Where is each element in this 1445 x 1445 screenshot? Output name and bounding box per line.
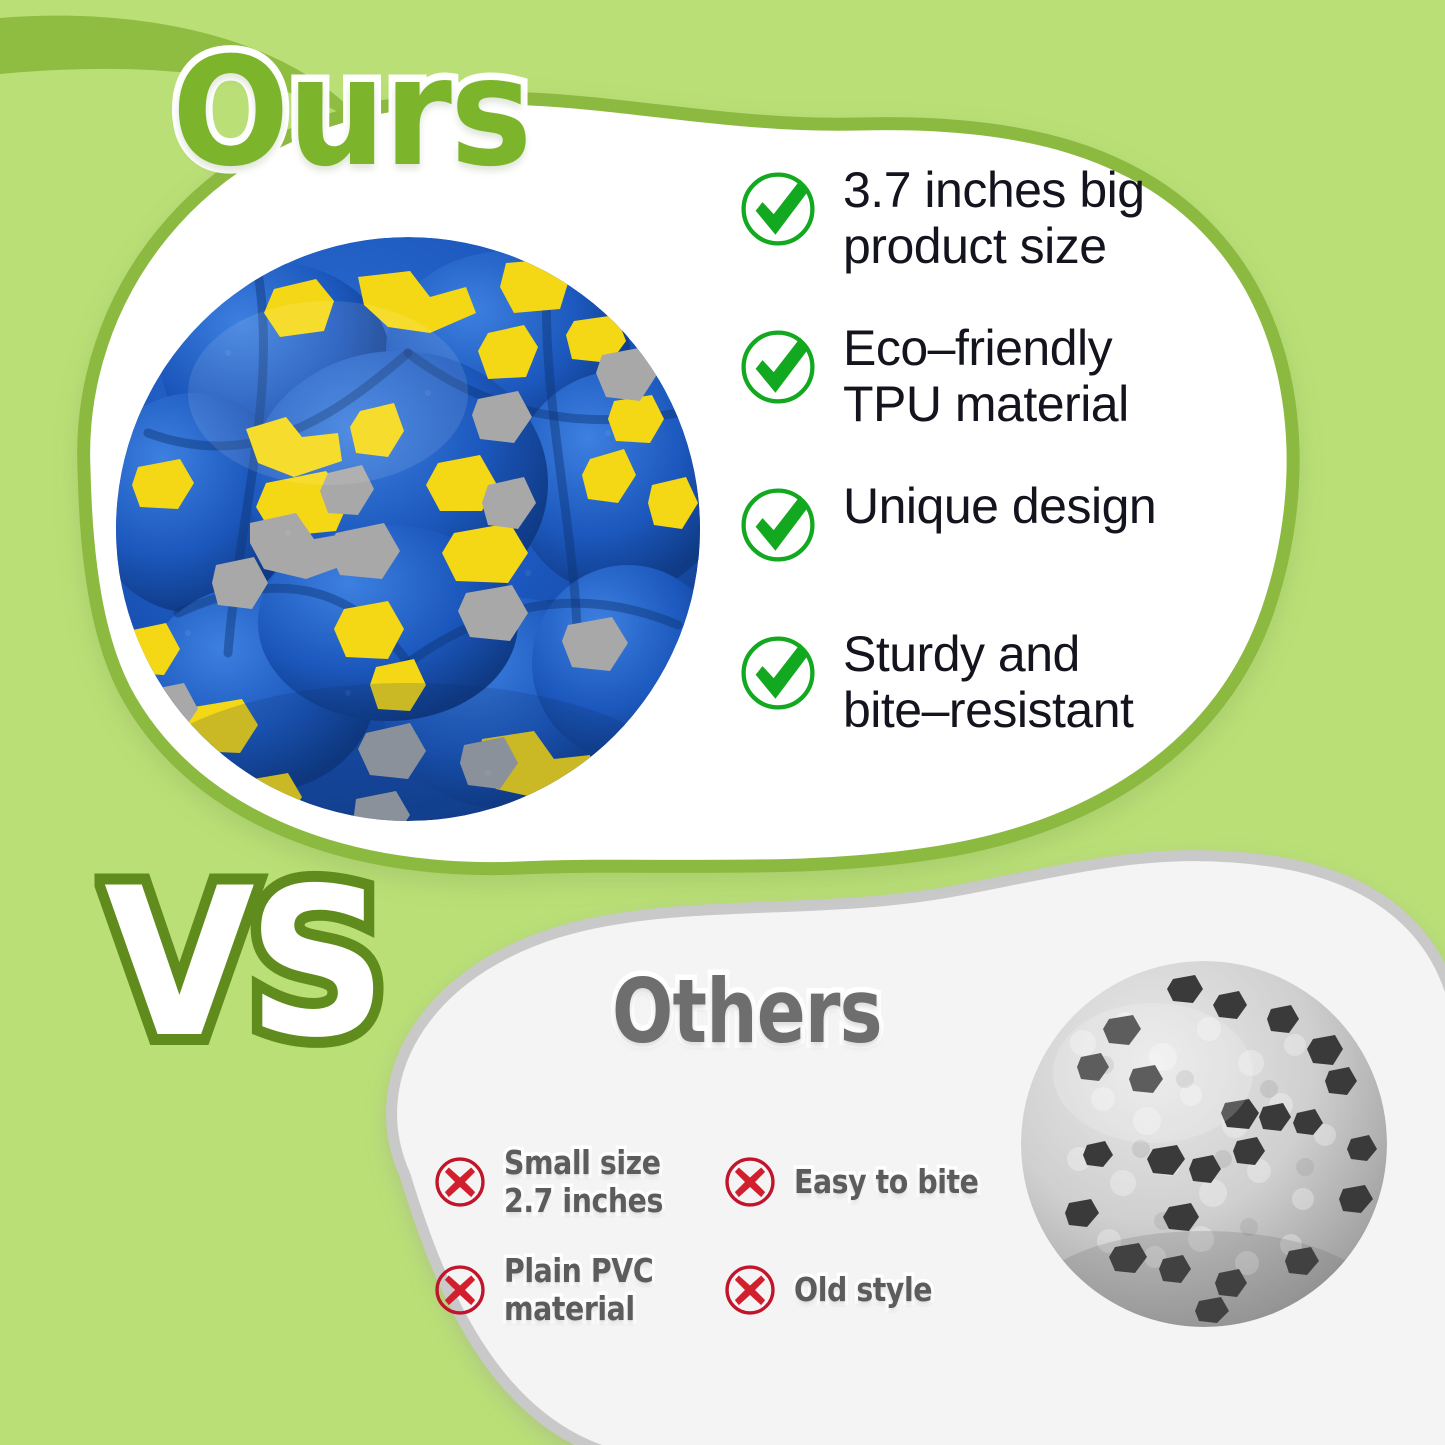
list-item: Unique design (735, 476, 1175, 580)
x-circle-icon (432, 1262, 488, 1318)
check-circle-icon (735, 630, 821, 716)
others-drawback-list: Small size 2.7 inches Easy to bite Plain… (432, 1128, 1032, 1344)
list-item-label: 3.7 inches big product size (843, 160, 1145, 274)
list-item-label: Easy to bite (794, 1163, 978, 1201)
list-item-label: Sturdy and bite–resistant (843, 624, 1133, 738)
ours-title: Ours (172, 38, 530, 188)
list-item: 3.7 inches big product size (735, 160, 1175, 274)
ours-product-image (108, 233, 708, 825)
check-circle-icon (735, 482, 821, 568)
x-circle-icon (722, 1154, 778, 1210)
list-item-line: material (504, 1290, 653, 1328)
list-item-label: Small size 2.7 inches (504, 1144, 663, 1220)
x-circle-icon (432, 1154, 488, 1210)
list-item: Small size 2.7 inches (432, 1128, 722, 1236)
others-product-image (1013, 953, 1395, 1335)
list-item-label: Eco–friendly TPU material (843, 318, 1129, 432)
list-item-line: 3.7 inches big (843, 162, 1145, 218)
list-item-label: Plain PVC material (504, 1252, 653, 1328)
x-circle-icon (722, 1262, 778, 1318)
list-item: Plain PVC material (432, 1236, 722, 1344)
list-item: Old style (722, 1236, 1022, 1344)
list-item: Easy to bite (722, 1128, 1022, 1236)
list-item-line: 2.7 inches (504, 1182, 663, 1220)
list-item-line: Easy to bite (794, 1163, 978, 1201)
list-item-line: Plain PVC (504, 1252, 653, 1290)
check-circle-icon (735, 324, 821, 410)
list-item-line: Old style (794, 1271, 932, 1309)
ours-feature-list: 3.7 inches big product size Eco–friendly… (735, 160, 1175, 738)
list-item-line: Unique design (843, 478, 1156, 534)
list-item-line: Small size (504, 1144, 663, 1182)
list-item-label: Old style (794, 1271, 932, 1309)
check-circle-icon (735, 166, 821, 252)
list-item-line: product size (843, 218, 1145, 274)
list-item-line: TPU material (843, 376, 1129, 432)
vs-divider-label: VS (104, 862, 380, 1067)
list-item: Eco–friendly TPU material (735, 318, 1175, 432)
list-item: Sturdy and bite–resistant (735, 624, 1175, 738)
others-title: Others (612, 968, 882, 1056)
comparison-infographic: Ours 3.7 inches big product size Eco–fri… (0, 0, 1445, 1445)
list-item-line: Sturdy and (843, 626, 1133, 682)
list-item-line: Eco–friendly (843, 320, 1129, 376)
list-item-line: bite–resistant (843, 682, 1133, 738)
list-item-label: Unique design (843, 476, 1156, 534)
